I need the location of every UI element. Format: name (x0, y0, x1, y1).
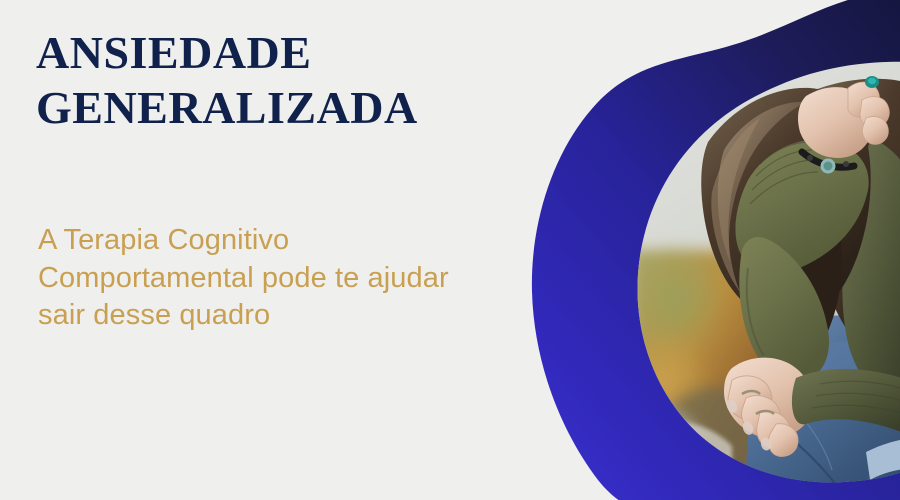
anxiety-promo-banner: ANSIEDADE GENERALIZADA A Terapia Cogniti… (0, 0, 900, 500)
blob-photo-composition (480, 0, 900, 500)
subtitle-text: A Terapia Cognitivo Comportamental pode … (38, 222, 458, 335)
text-column: ANSIEDADE GENERALIZADA A Terapia Cogniti… (0, 0, 520, 500)
graphic-panel (480, 0, 900, 500)
page-title: ANSIEDADE GENERALIZADA (36, 26, 496, 135)
